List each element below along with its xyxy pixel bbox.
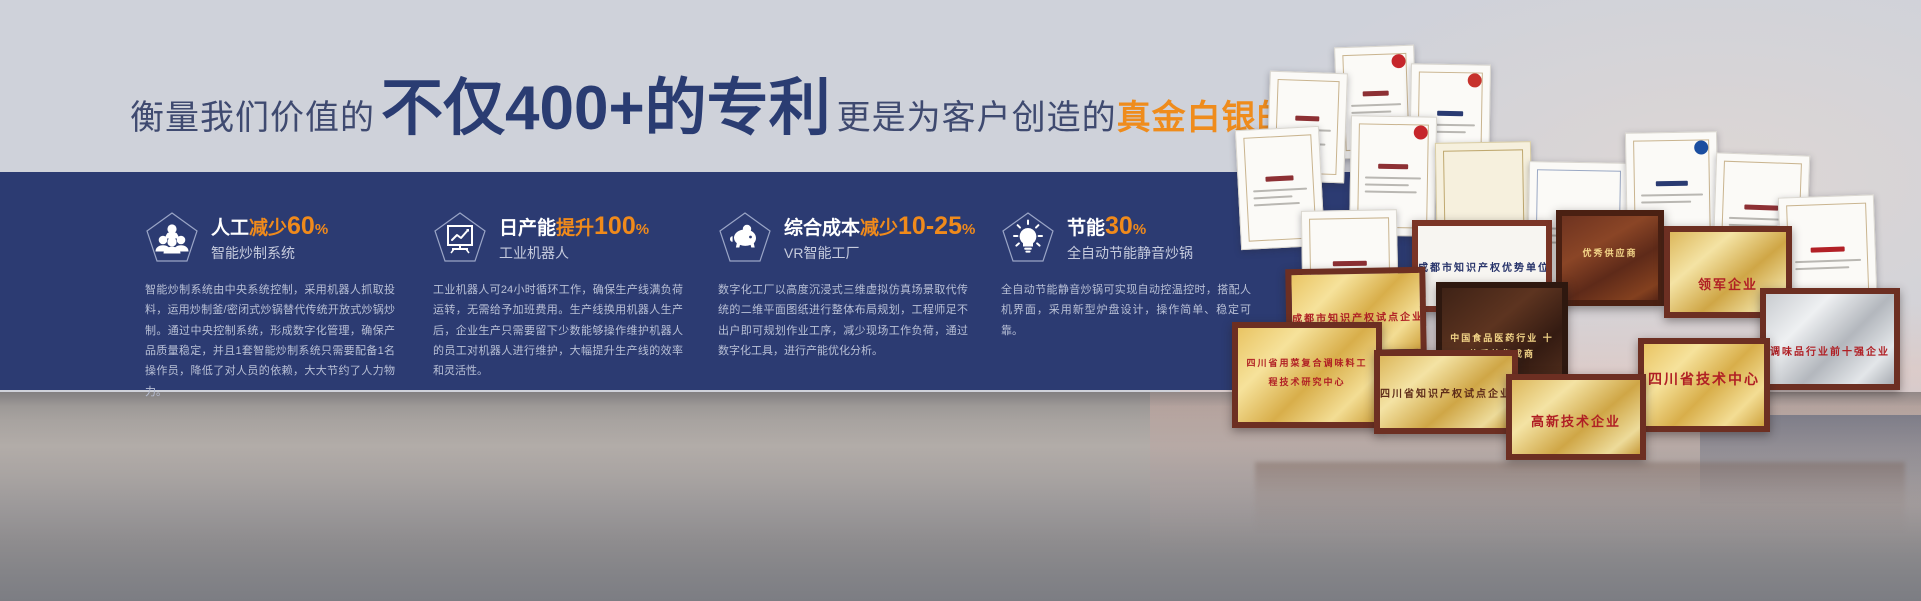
headline-middle: 更是为客户创造的: [837, 90, 1117, 139]
piggy-bank-icon: [718, 211, 772, 263]
headline-lead: 衡量我们价值的: [130, 90, 375, 139]
award-plaque: 调味品行业前十强企业: [1760, 288, 1900, 390]
feature-subtitle-4: 全自动节能静音炒锅: [1067, 245, 1193, 262]
feature-title-prefix: 综合成本: [784, 218, 860, 239]
light-bulb-icon: [1001, 211, 1055, 263]
feature-title-4: 节能30%: [1067, 212, 1193, 241]
feature-body-4: 全自动节能静音炒锅可实现自动控温控时，搭配人机界面，采用新型炉盘设计，操作简单、…: [1001, 280, 1251, 341]
feature-title-unit: %: [315, 221, 328, 238]
feature-title-3: 综合成本减少10-25%: [784, 212, 975, 241]
banner-stage: 衡量我们价值的 不仅400+的专利 更是为客户创造的 真金白银的效益: [0, 0, 1921, 601]
headline-emphasis: 不仅400+的专利: [381, 78, 831, 140]
feature-item-3: 综合成本减少10-25% VR智能工厂 数字化工厂以高度沉浸式三维虚拟仿真场景取…: [718, 208, 973, 390]
feature-item-2: 日产能提升100% 工业机器人 工业机器人可24小时循环工作，确保生产线满负荷运…: [433, 208, 688, 390]
feature-title-number: 30: [1105, 212, 1133, 240]
feature-title-prefix: 人工: [211, 218, 249, 239]
feature-body-1: 智能炒制系统由中央系统控制，采用机器人抓取投料，运用炒制釜/密闭式炒锅替代传统开…: [145, 280, 395, 402]
feature-title-highlight: 减少: [249, 218, 287, 239]
pile-reflection: [1255, 462, 1905, 532]
feature-title-number: 100: [594, 212, 636, 240]
banner-headline: 衡量我们价值的 不仅400+的专利 更是为客户创造的 真金白银的效益: [130, 78, 1362, 140]
feature-subtitle-3: VR智能工厂: [784, 245, 975, 262]
people-group-icon: [145, 211, 199, 263]
feature-title-prefix: 日产能: [499, 218, 556, 239]
feature-item-4: 节能30% 全自动节能静音炒锅 全自动节能静音炒锅可实现自动控温控时，搭配人机界…: [1001, 208, 1256, 390]
feature-title-2: 日产能提升100%: [499, 212, 649, 241]
feature-title-unit: %: [1133, 221, 1146, 238]
feature-title-prefix: 节能: [1067, 218, 1105, 239]
feature-item-1: 人工减少60% 智能炒制系统 智能炒制系统由中央系统控制，采用机器人抓取投料，运…: [145, 208, 400, 390]
feature-title-unit: %: [636, 221, 649, 238]
award-plaque: 四川省用菜复合调味料工程技术研究中心: [1232, 322, 1382, 428]
feature-title-unit: %: [962, 221, 975, 238]
award-plaque: 四川省技术中心: [1638, 338, 1770, 432]
certificate-and-plaque-pile: 成都市知识产权优势单位 优秀供应商 领军企业 成都市知识产权试点企业 中国食品医…: [1240, 44, 1921, 464]
feature-body-2: 工业机器人可24小时循环工作，确保生产线满负荷运转，无需给予加班费用。生产线换用…: [433, 280, 683, 382]
feature-title-highlight: 提升: [556, 218, 594, 239]
award-plaque: 四川省知识产权试点企业: [1374, 350, 1518, 434]
feature-title-1: 人工减少60%: [211, 212, 328, 241]
award-plaque: 优秀供应商: [1556, 210, 1664, 306]
feature-panel: 人工减少60% 智能炒制系统 智能炒制系统由中央系统控制，采用机器人抓取投料，运…: [0, 172, 1418, 390]
feature-title-number: 10-25: [898, 212, 962, 240]
feature-subtitle-1: 智能炒制系统: [211, 245, 328, 262]
feature-title-number: 60: [287, 212, 315, 240]
feature-subtitle-2: 工业机器人: [499, 245, 649, 262]
award-plaque: 高新技术企业: [1506, 374, 1646, 460]
chart-board-icon: [433, 211, 487, 263]
feature-body-3: 数字化工厂以高度沉浸式三维虚拟仿真场景取代传统的二维平面图纸进行整体布局规划，工…: [718, 280, 968, 361]
feature-title-highlight: 减少: [860, 218, 898, 239]
